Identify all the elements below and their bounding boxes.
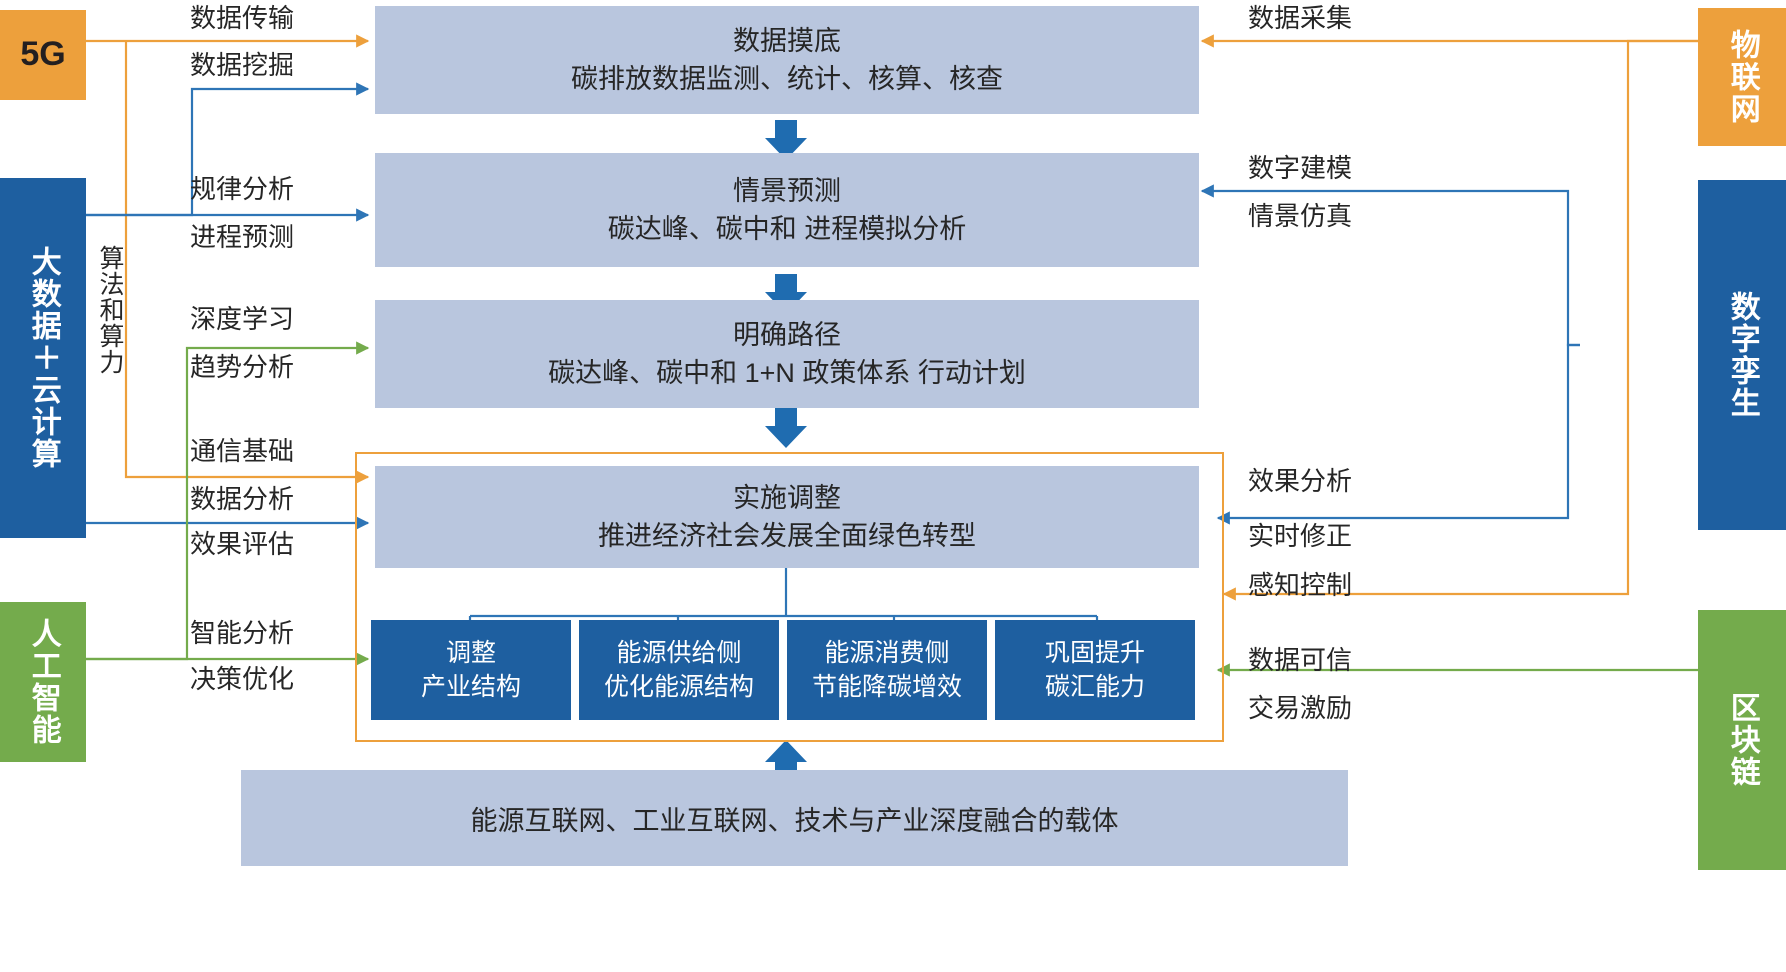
- label-trusted-data: 数据可信: [1248, 647, 1352, 673]
- label-effect-analysis: 效果分析: [1248, 468, 1352, 494]
- diagram-canvas: 5G 大数据＋云计算 人工智能 算法和算力 物联网 数字孪生 区块链 数据摸底 …: [0, 0, 1786, 972]
- tech-box-blockchain[interactable]: 区块链: [1698, 610, 1786, 870]
- stage-box-forecast[interactable]: 情景预测 碳达峰、碳中和 进程模拟分析: [375, 153, 1199, 267]
- tech-box-digital-twin[interactable]: 数字孪生: [1698, 180, 1786, 530]
- arrow-stage3-to-stage4: [765, 408, 807, 448]
- action-industry-line2: 产业结构: [421, 670, 521, 705]
- action-box-supply[interactable]: 能源供给侧 优化能源结构: [579, 620, 779, 720]
- stage-adjust-line2: 推进经济社会发展全面绿色转型: [598, 517, 976, 555]
- tech-box-iot[interactable]: 物联网: [1698, 8, 1786, 146]
- carrier-bar[interactable]: 能源互联网、工业互联网、技术与产业深度融合的载体: [241, 770, 1348, 866]
- label-deep-learning: 深度学习: [190, 306, 294, 332]
- wire-iot-sensing-control: [1224, 41, 1698, 594]
- tech-box-bigdata-cloud[interactable]: 大数据＋云计算: [0, 178, 86, 538]
- label-process-forecast: 进程预测: [190, 224, 294, 250]
- label-sensing-control: 感知控制: [1248, 572, 1352, 598]
- tech-box-blockchain-label: 区块链: [1726, 692, 1758, 788]
- action-supply-line2: 优化能源结构: [604, 670, 754, 705]
- tech-box-bigdata-cloud-label: 大数据＋云计算: [27, 246, 59, 470]
- action-supply-line1: 能源供给侧: [616, 636, 741, 671]
- action-sink-line2: 碳汇能力: [1045, 670, 1145, 705]
- stage-adjust-line1: 实施调整: [733, 479, 841, 517]
- tech-box-iot-label: 物联网: [1726, 29, 1758, 125]
- stage-path-line2: 碳达峰、碳中和 1+N 政策体系 行动计划: [548, 354, 1026, 392]
- label-data-collection: 数据采集: [1248, 5, 1352, 31]
- carrier-bar-label: 能源互联网、工业互联网、技术与产业深度融合的载体: [471, 799, 1119, 838]
- label-data-analysis: 数据分析: [190, 486, 294, 512]
- stage-forecast-line1: 情景预测: [733, 172, 841, 210]
- label-realtime-correction: 实时修正: [1248, 523, 1352, 549]
- label-data-transfer: 数据传输: [190, 5, 294, 31]
- label-trade-incentive: 交易激励: [1248, 695, 1352, 721]
- tech-box-ai[interactable]: 人工智能: [0, 602, 86, 762]
- action-box-industry[interactable]: 调整 产业结构: [371, 620, 571, 720]
- action-box-consume[interactable]: 能源消费侧 节能降碳增效: [787, 620, 987, 720]
- label-intelligent-analysis: 智能分析: [190, 620, 294, 646]
- stage-survey-line2: 碳排放数据监测、统计、核算、核查: [571, 60, 1003, 98]
- label-scenario-simulation: 情景仿真: [1248, 203, 1352, 229]
- tech-box-5g-label: 5G: [20, 37, 65, 73]
- left-spine-label: 算法和算力: [88, 245, 122, 375]
- label-trend-analysis: 趋势分析: [190, 354, 294, 380]
- label-digital-modeling: 数字建模: [1248, 155, 1352, 181]
- stage-box-survey[interactable]: 数据摸底 碳排放数据监测、统计、核算、核查: [375, 6, 1199, 114]
- tech-box-5g[interactable]: 5G: [0, 10, 86, 100]
- label-comm-infrastructure: 通信基础: [190, 438, 294, 464]
- stage-survey-line1: 数据摸底: [733, 22, 841, 60]
- stage-box-path[interactable]: 明确路径 碳达峰、碳中和 1+N 政策体系 行动计划: [375, 300, 1199, 408]
- label-decision-optimization: 决策优化: [190, 666, 294, 692]
- action-consume-line2: 节能降碳增效: [812, 670, 962, 705]
- stage-box-adjust[interactable]: 实施调整 推进经济社会发展全面绿色转型: [375, 466, 1199, 568]
- stage-path-line1: 明确路径: [733, 316, 841, 354]
- label-data-mining: 数据挖掘: [190, 52, 294, 78]
- action-box-sink[interactable]: 巩固提升 碳汇能力: [995, 620, 1195, 720]
- tech-box-digital-twin-label: 数字孪生: [1726, 291, 1758, 419]
- wire-5g-comm-infrastructure: [126, 41, 368, 477]
- action-consume-line1: 能源消费侧: [824, 636, 949, 671]
- action-sink-line1: 巩固提升: [1045, 636, 1145, 671]
- tech-box-ai-label: 人工智能: [27, 618, 59, 746]
- action-industry-line1: 调整: [446, 636, 496, 671]
- stage-forecast-line2: 碳达峰、碳中和 进程模拟分析: [608, 210, 967, 248]
- label-effect-evaluation: 效果评估: [190, 531, 294, 557]
- label-pattern-analysis: 规律分析: [190, 176, 294, 202]
